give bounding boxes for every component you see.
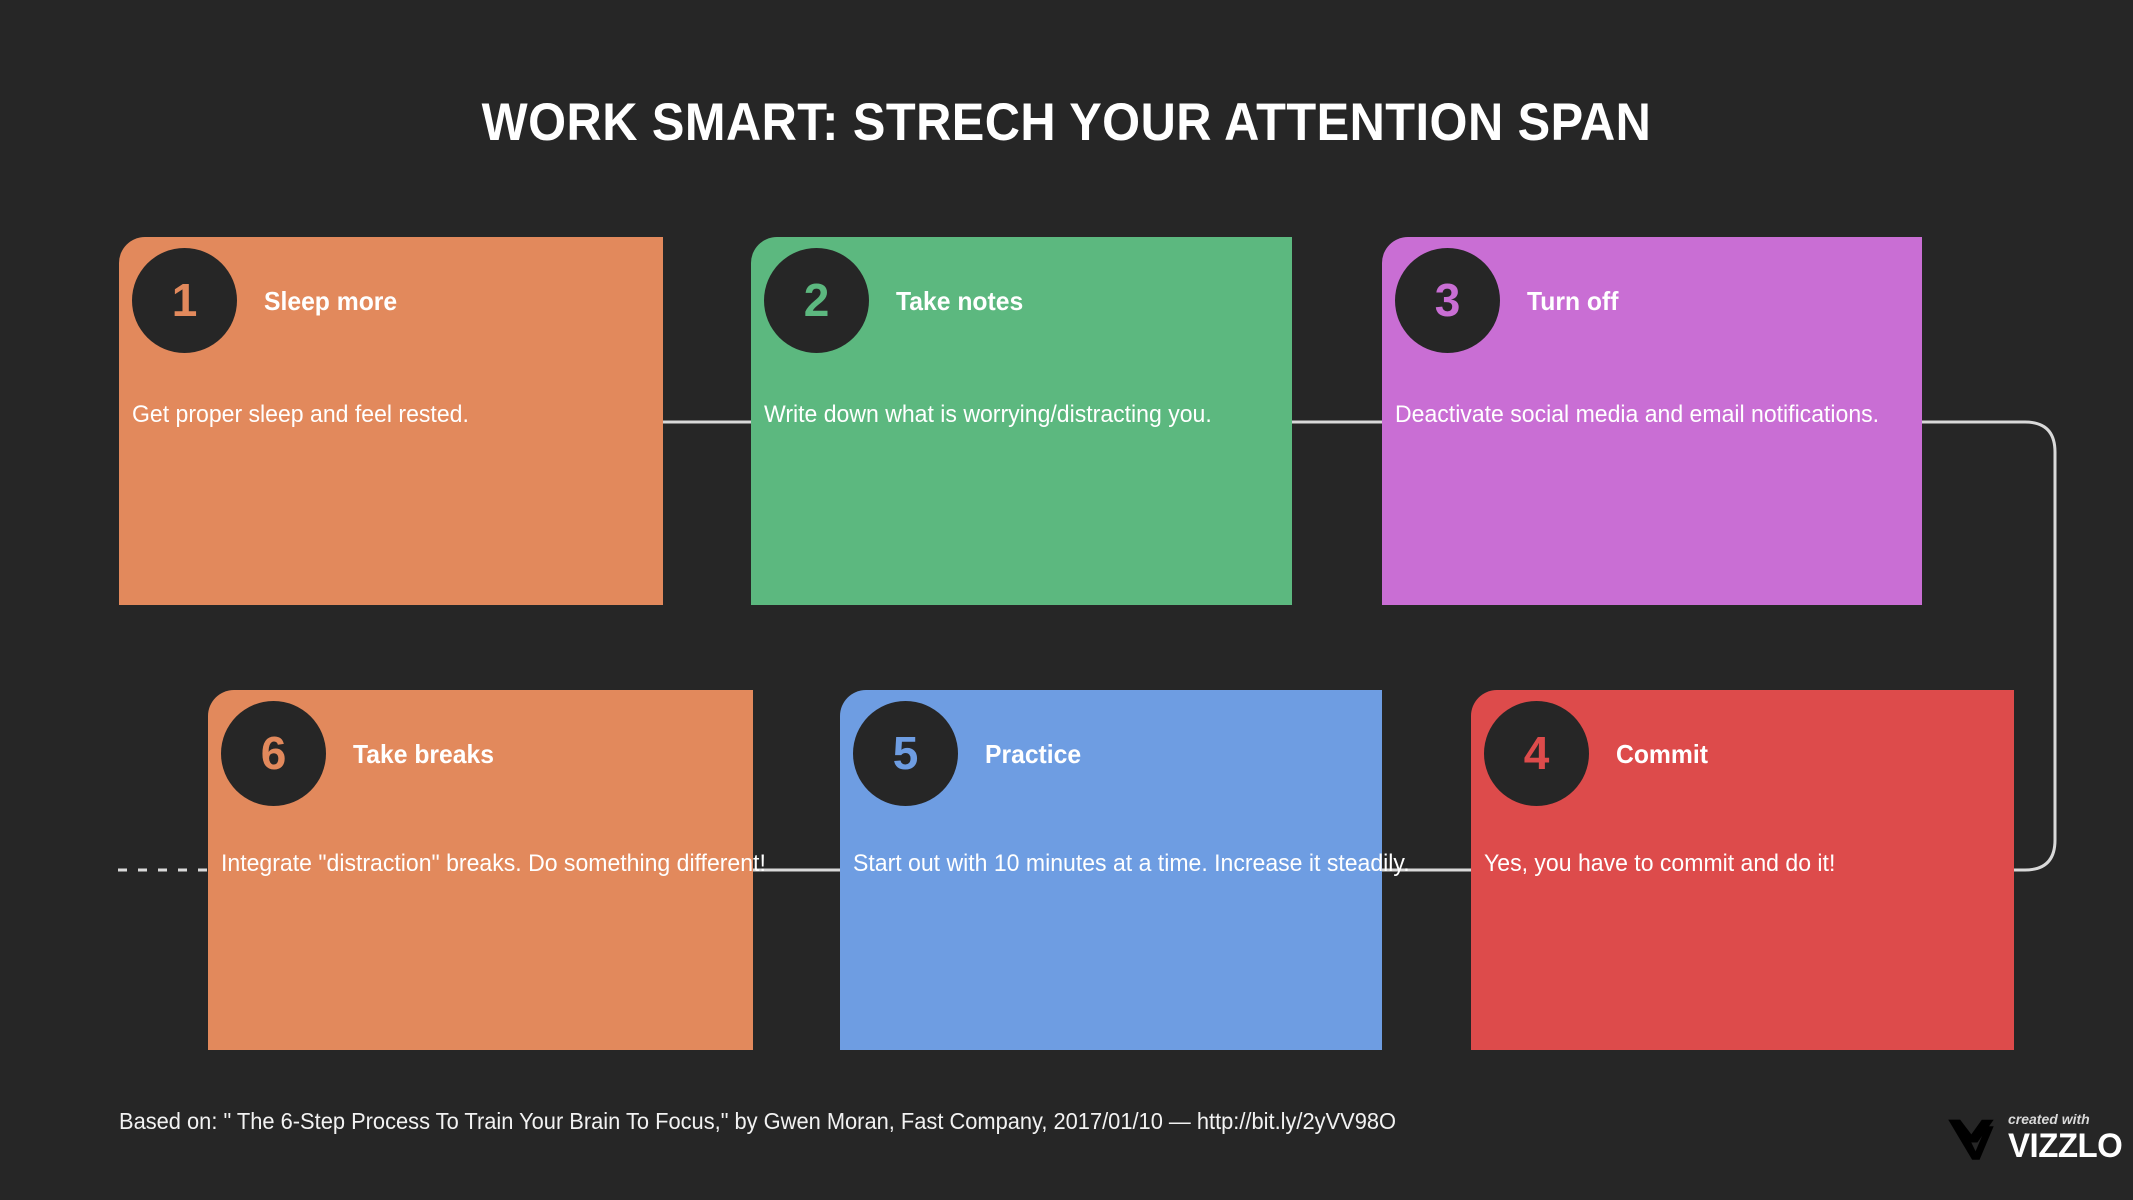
step-card-header: 6 Take breaks (208, 690, 501, 810)
step-number-badge: 2 (764, 248, 869, 353)
source-citation: Based on: " The 6-Step Process To Train … (119, 1108, 1396, 1135)
step-heading: Sleep more (264, 286, 397, 317)
step-number: 6 (261, 726, 287, 780)
step-heading: Practice (985, 739, 1081, 770)
step-body: Start out with 10 minutes at a time. Inc… (853, 850, 1410, 878)
vizzlo-created-with-label: created with (2008, 1112, 2126, 1126)
step-body: Integrate "distraction" breaks. Do somet… (221, 850, 766, 878)
step-card[interactable]: 3 Turn off Deactivate social media and e… (1382, 237, 1922, 605)
step-number-badge: 4 (1484, 701, 1589, 806)
step-card[interactable]: 2 Take notes Write down what is worrying… (751, 237, 1292, 605)
step-heading: Turn off (1527, 286, 1618, 317)
step-card-header: 1 Sleep more (119, 237, 404, 357)
step-number: 2 (804, 273, 830, 327)
step-body: Get proper sleep and feel rested. (132, 401, 469, 429)
vizzlo-wordmark: created with VIZZLO (2008, 1112, 2126, 1163)
step-heading: Take notes (896, 286, 1023, 317)
vizzlo-brand-name: VIZZLO (2008, 1129, 2122, 1163)
step-number: 3 (1435, 273, 1461, 327)
step-number-badge: 5 (853, 701, 958, 806)
step-card-header: 4 Commit (1471, 690, 1713, 810)
step-card-header: 2 Take notes (751, 237, 1030, 357)
step-number: 4 (1524, 726, 1550, 780)
step-body: Write down what is worrying/distracting … (764, 401, 1212, 429)
step-number-badge: 6 (221, 701, 326, 806)
step-number: 5 (893, 726, 919, 780)
step-heading: Commit (1616, 739, 1708, 770)
vizzlo-logo[interactable]: created with VIZZLO (1944, 1108, 2126, 1166)
step-card[interactable]: 4 Commit Yes, you have to commit and do … (1471, 690, 2014, 1050)
step-card[interactable]: 1 Sleep more Get proper sleep and feel r… (119, 237, 663, 605)
step-number-badge: 3 (1395, 248, 1500, 353)
infographic-canvas: WORK SMART: STRECH YOUR ATTENTION SPAN 1… (0, 0, 2133, 1200)
step-number-badge: 1 (132, 248, 237, 353)
step-number: 1 (172, 273, 198, 327)
step-heading: Take breaks (353, 739, 494, 770)
step-card-header: 3 Turn off (1382, 237, 1623, 357)
step-body: Yes, you have to commit and do it! (1484, 850, 1835, 878)
step-body: Deactivate social media and email notifi… (1395, 401, 1879, 429)
step-card-header: 5 Practice (840, 690, 1086, 810)
step-card[interactable]: 6 Take breaks Integrate "distraction" br… (208, 690, 753, 1050)
page-title: WORK SMART: STRECH YOUR ATTENTION SPAN (85, 92, 2047, 153)
vizzlo-checkmark-icon (1944, 1110, 1998, 1164)
step-card[interactable]: 5 Practice Start out with 10 minutes at … (840, 690, 1382, 1050)
